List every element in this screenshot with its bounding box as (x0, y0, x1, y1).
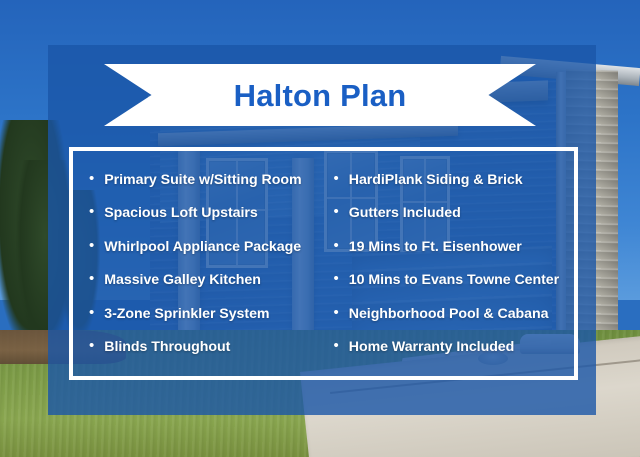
feature-label: 19 Mins to Ft. Eisenhower (349, 239, 522, 255)
feature-column-right: • HardiPlank Siding & Brick • Gutters In… (324, 151, 575, 376)
bullet-icon: • (334, 305, 339, 320)
bullet-icon: • (89, 238, 94, 253)
list-item: • Whirlpool Appliance Package (89, 239, 318, 255)
list-item: • 10 Mins to Evans Towne Center (334, 272, 569, 288)
bullet-icon: • (89, 338, 94, 353)
list-item: • Gutters Included (334, 205, 569, 221)
feature-column-left: • Primary Suite w/Sitting Room • Spaciou… (73, 151, 324, 376)
bullet-icon: • (89, 204, 94, 219)
feature-label: Blinds Throughout (104, 339, 230, 355)
feature-label: 10 Mins to Evans Towne Center (349, 272, 559, 288)
page-title: Halton Plan (234, 80, 407, 111)
feature-label: Home Warranty Included (349, 339, 515, 355)
feature-card-graphic: Halton Plan • Primary Suite w/Sitting Ro… (0, 0, 640, 457)
feature-label: Gutters Included (349, 205, 461, 221)
bullet-icon: • (334, 204, 339, 219)
feature-label: Spacious Loft Upstairs (104, 205, 257, 221)
list-item: • Massive Galley Kitchen (89, 272, 318, 288)
list-item: • Home Warranty Included (334, 339, 569, 355)
bullet-icon: • (89, 271, 94, 286)
list-item: • Primary Suite w/Sitting Room (89, 172, 318, 188)
feature-label: Neighborhood Pool & Cabana (349, 306, 549, 322)
bullet-icon: • (334, 338, 339, 353)
feature-label: Massive Galley Kitchen (104, 272, 261, 288)
list-item: • 19 Mins to Ft. Eisenhower (334, 239, 569, 255)
feature-label: Whirlpool Appliance Package (104, 239, 301, 255)
bullet-icon: • (334, 271, 339, 286)
list-item: • HardiPlank Siding & Brick (334, 172, 569, 188)
list-item: • Blinds Throughout (89, 339, 318, 355)
bullet-icon: • (334, 171, 339, 186)
feature-label: Primary Suite w/Sitting Room (104, 172, 301, 188)
list-item: • Neighborhood Pool & Cabana (334, 306, 569, 322)
bullet-icon: • (89, 305, 94, 320)
bullet-icon: • (334, 238, 339, 253)
list-item: • Spacious Loft Upstairs (89, 205, 318, 221)
feature-list-box: • Primary Suite w/Sitting Room • Spaciou… (69, 147, 578, 380)
title-ribbon: Halton Plan (104, 64, 536, 126)
feature-label: 3-Zone Sprinkler System (104, 306, 269, 322)
feature-label: HardiPlank Siding & Brick (349, 172, 523, 188)
bullet-icon: • (89, 171, 94, 186)
list-item: • 3-Zone Sprinkler System (89, 306, 318, 322)
